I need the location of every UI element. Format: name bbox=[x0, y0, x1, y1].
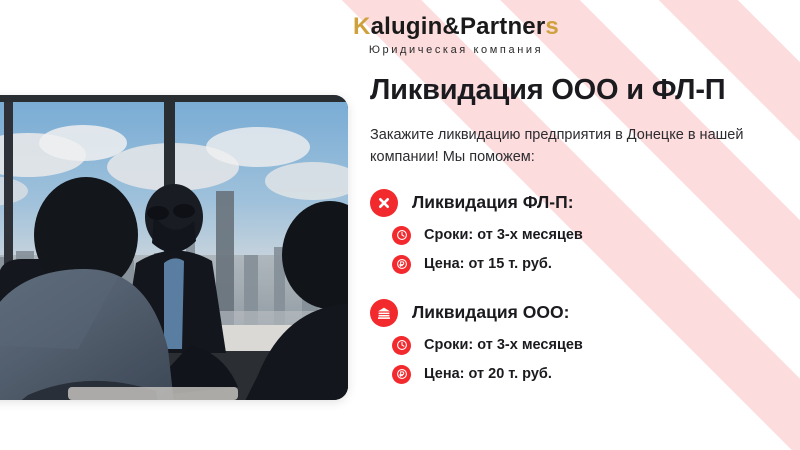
section-bullets: Сроки: от 3-х месяцев Цена: от 15 т. руб… bbox=[370, 226, 790, 274]
bullet-label: Сроки: от 3-х месяцев bbox=[424, 337, 583, 353]
bullet-label: Цена: от 20 т. руб. bbox=[424, 366, 552, 382]
logo-tagline: Юридическая компания bbox=[296, 44, 616, 56]
page-subtitle: Закажите ликвидацию предприятия в Донецк… bbox=[370, 125, 774, 169]
logo-middle: alugin&Partner bbox=[371, 13, 546, 40]
list-item: Цена: от 20 т. руб. bbox=[392, 365, 790, 384]
promo-banner: Kalugin&Partners Юридическая компания Ли… bbox=[0, 0, 800, 450]
section-header: Ликвидация ФЛ-П: bbox=[370, 189, 790, 217]
service-section-ooo: Ликвидация ООО: Сроки: от 3-х месяцев bbox=[370, 299, 790, 384]
list-item: Сроки: от 3-х месяцев bbox=[392, 226, 790, 245]
brand-logo[interactable]: Kalugin&Partners Юридическая компания bbox=[296, 14, 616, 56]
close-circle-icon bbox=[370, 189, 398, 217]
clock-icon bbox=[392, 336, 411, 355]
courthouse-icon bbox=[370, 299, 398, 327]
list-item: Цена: от 15 т. руб. bbox=[392, 255, 790, 274]
section-heading-label: Ликвидация ООО: bbox=[412, 302, 569, 323]
logo-prefix: K bbox=[353, 13, 371, 40]
logo-suffix: s bbox=[545, 13, 559, 40]
ruble-coin-icon bbox=[392, 255, 411, 274]
service-section-flp: Ликвидация ФЛ-П: Сроки: от 3-х месяцев bbox=[370, 189, 790, 274]
list-item: Сроки: от 3-х месяцев bbox=[392, 336, 790, 355]
bullet-label: Сроки: от 3-х месяцев bbox=[424, 227, 583, 243]
bullet-label: Цена: от 15 т. руб. bbox=[424, 256, 552, 272]
section-header: Ликвидация ООО: bbox=[370, 299, 790, 327]
content-column: Ликвидация ООО и ФЛ-П Закажите ликвидаци… bbox=[370, 74, 790, 384]
ruble-coin-icon bbox=[392, 365, 411, 384]
page-title: Ликвидация ООО и ФЛ-П bbox=[370, 74, 790, 107]
photo-illustration bbox=[0, 95, 348, 400]
section-bullets: Сроки: от 3-х месяцев Цена: от 20 т. руб… bbox=[370, 336, 790, 384]
clock-icon bbox=[392, 226, 411, 245]
logo-wordmark: Kalugin&Partners bbox=[296, 14, 616, 39]
office-meeting-photo bbox=[0, 95, 348, 400]
section-heading-label: Ликвидация ФЛ-П: bbox=[412, 192, 574, 213]
